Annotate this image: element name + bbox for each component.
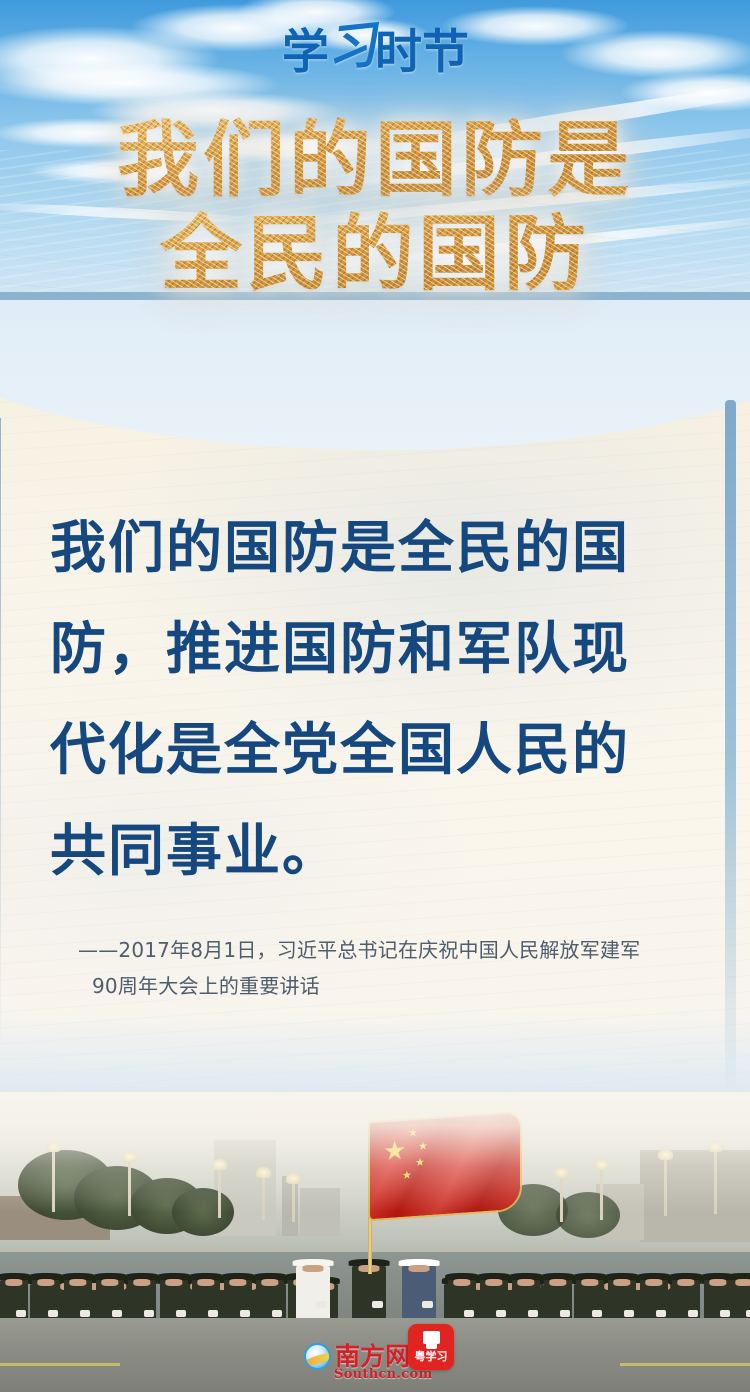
quote-line: 我们的国防是全民的国: [50, 498, 700, 599]
quote-line: 共同事业。: [50, 801, 700, 902]
quote-block: 我们的国防是全民的国 防，推进国防和军队现 代化是全党全国人民的 共同事业。: [50, 498, 700, 902]
attribution-line-1: ——2017年8月1日，习近平总书记在庆祝中国人民解放军建军: [78, 938, 640, 962]
logo-char-jie: 节: [422, 29, 468, 76]
headline-line-1: 我们的国防是: [0, 113, 750, 207]
page-title: 我们的国防是 全民的国防: [0, 113, 750, 301]
southcn-cn-label: 南方网: [335, 1344, 410, 1369]
globe-icon: [304, 1343, 331, 1370]
logo-char-xue: 学: [282, 29, 328, 76]
yuexuexi-label: 粤学习: [415, 1348, 448, 1364]
paper-rim-left: [0, 418, 1, 1058]
yuexuexi-watermark[interactable]: 粤学习: [408, 1324, 454, 1370]
southcn-watermark[interactable]: 南方网 Southcn.com: [304, 1343, 410, 1370]
quote-attribution: ——2017年8月1日，习近平总书记在庆祝中国人民解放军建军 90周年大会上的重…: [78, 932, 698, 1004]
logo-char-shi: 时: [375, 29, 421, 76]
poster-canvas: 学 习 时 节 我们的国防是 全民的国防 我们的国防是全民的国 防，推进国防和军…: [0, 0, 750, 1392]
quote-line: 防，推进国防和军队现: [50, 599, 700, 700]
attribution-line-2: 90周年大会上的重要讲话: [78, 968, 698, 1004]
paper-rim-right: [725, 400, 736, 1100]
yuexuexi-book-icon: [423, 1331, 440, 1344]
photo-top-fade: [0, 1092, 750, 1212]
quote-line: 代化是全党全国人民的: [50, 700, 700, 801]
brand-logo[interactable]: 学 习 时 节: [0, 26, 750, 76]
headline-line-2: 全民的国防: [0, 207, 750, 301]
logo-char-xi: 习: [324, 20, 378, 75]
